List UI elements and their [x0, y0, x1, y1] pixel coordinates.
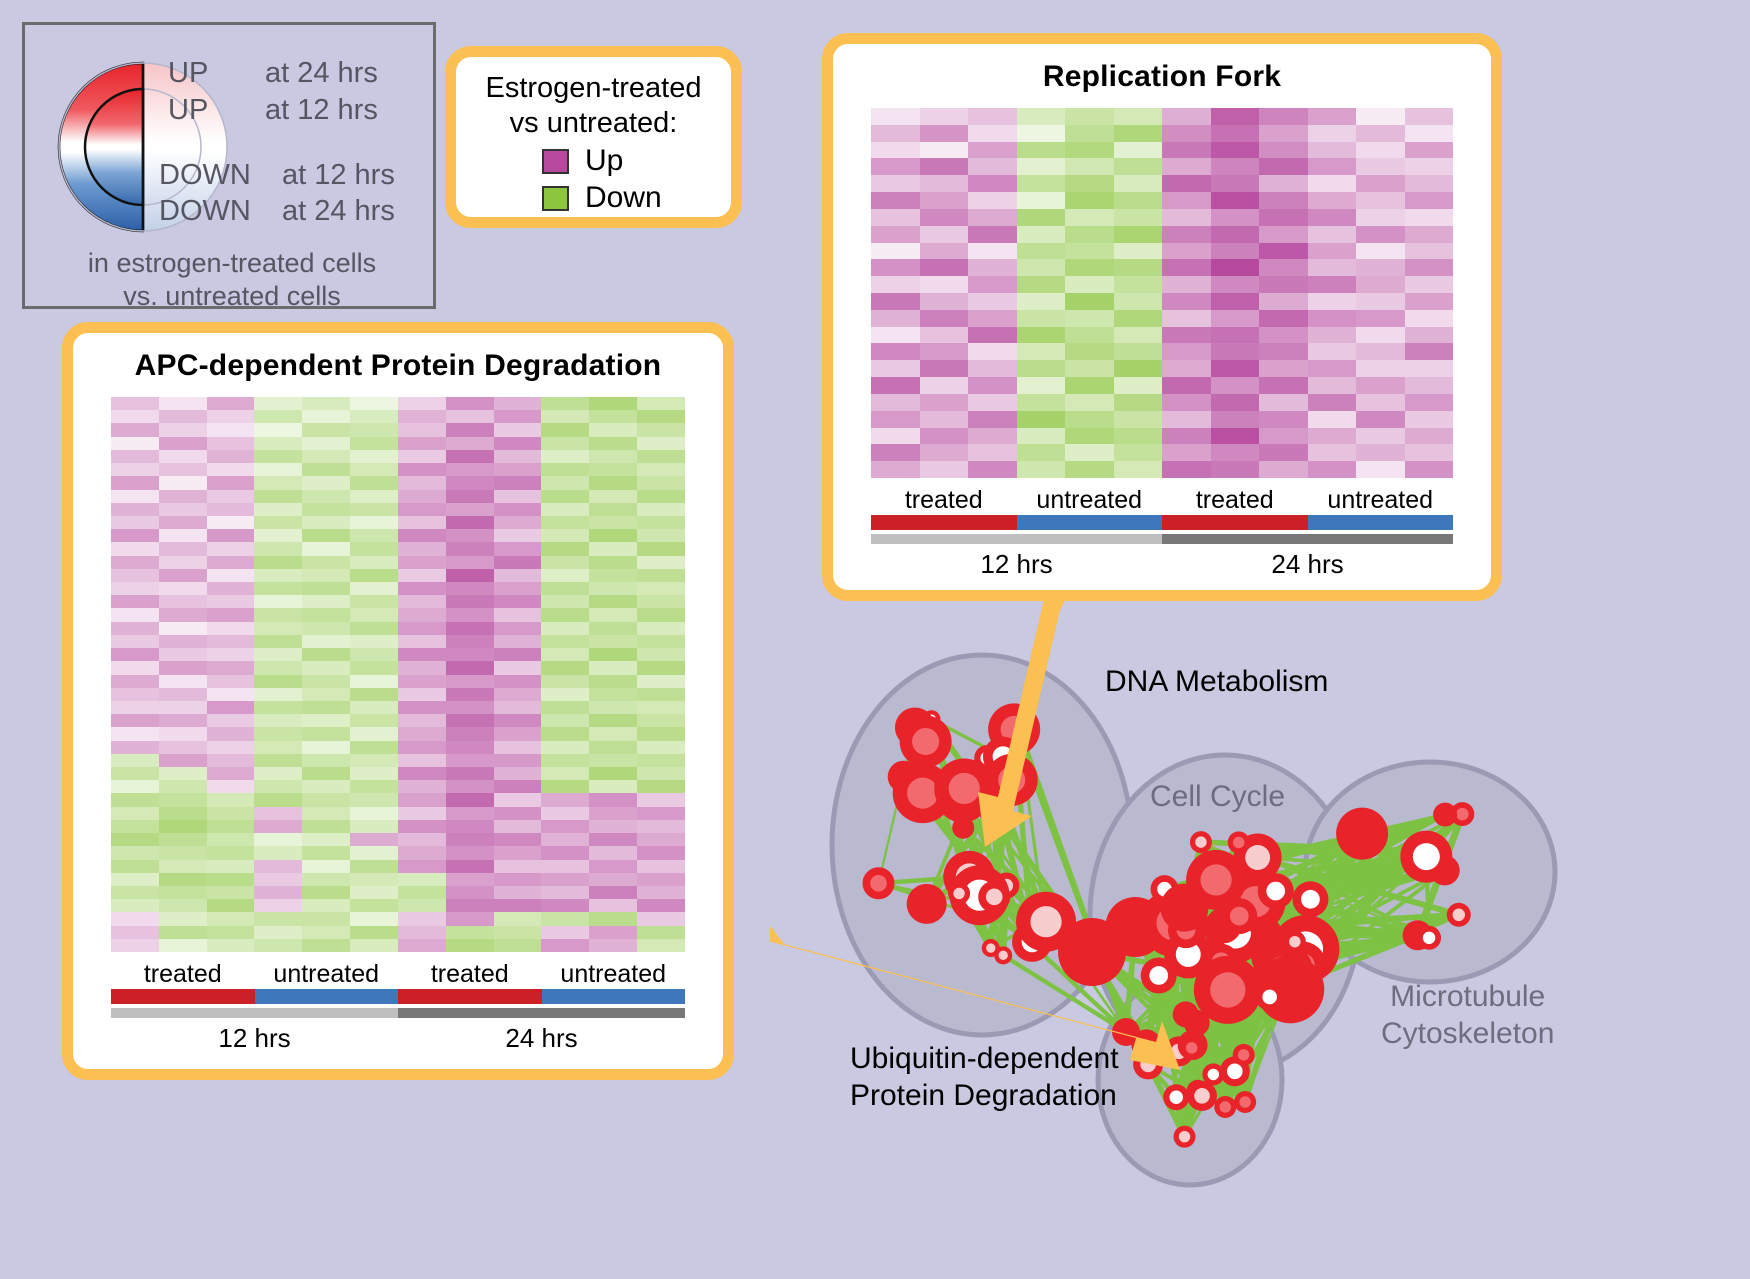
- heatmap-cell: [637, 450, 685, 463]
- heatmap-cell: [920, 293, 969, 310]
- heatmap-cell: [1065, 125, 1114, 142]
- heatmap-cell: [589, 635, 637, 648]
- heatmap-cell: [494, 860, 542, 873]
- heatmap-cell: [254, 648, 302, 661]
- heatmap-cell: [1308, 158, 1357, 175]
- network-node[interactable]: [1186, 850, 1246, 910]
- node-inner-fill: [1413, 843, 1440, 870]
- heatmap-cell: [302, 410, 350, 423]
- heatmap-cell: [111, 767, 159, 780]
- heatmap-cell: [968, 394, 1017, 411]
- heatmap-cell: [350, 886, 398, 899]
- heatmap-cell: [111, 714, 159, 727]
- heatmap-cell: [541, 608, 589, 621]
- heatmap-cell: [111, 793, 159, 806]
- heatmap-cell: [968, 226, 1017, 243]
- heatmap-cell: [1259, 158, 1308, 175]
- heatmap-cell: [637, 490, 685, 503]
- heatmap-cell: [541, 529, 589, 542]
- heatmap-cell: [159, 476, 207, 489]
- heatmap-cell: [1405, 461, 1454, 478]
- heatmap-cell: [637, 463, 685, 476]
- heatmap-cell: [446, 899, 494, 912]
- heatmap-cell: [350, 701, 398, 714]
- heatmap-cell: [446, 476, 494, 489]
- heatmap-cell: [637, 437, 685, 450]
- heatmap-cell: [1017, 142, 1066, 159]
- heatmap-cell: [1114, 360, 1163, 377]
- heatmap-cell: [159, 595, 207, 608]
- heatmap-cell: [111, 727, 159, 740]
- network-node[interactable]: [1447, 903, 1471, 927]
- heatmap-cell: [302, 886, 350, 899]
- heatmap-cell: [920, 327, 969, 344]
- heatmap-cell: [207, 714, 255, 727]
- network-node[interactable]: [1141, 958, 1177, 994]
- heatmap-cell: [920, 343, 969, 360]
- heatmap-cell: [207, 833, 255, 846]
- heatmap-cell: [637, 608, 685, 621]
- heatmap-cell: [541, 622, 589, 635]
- heatmap-cell: [1162, 444, 1211, 461]
- heatmap-cell: [207, 582, 255, 595]
- heatmap-cell: [207, 675, 255, 688]
- heatmap-cell: [1356, 444, 1405, 461]
- heatmap-cell: [446, 688, 494, 701]
- heatmap-cell: [159, 714, 207, 727]
- network-node[interactable]: [1214, 1096, 1236, 1118]
- heatmap-cell: [254, 661, 302, 674]
- heatmap-cell: [1211, 175, 1260, 192]
- heatmap-cell: [254, 556, 302, 569]
- heatmap-cell: [302, 820, 350, 833]
- heatmap-cell: [398, 397, 446, 410]
- heatmap-cell: [446, 635, 494, 648]
- heatmap-cell: [968, 343, 1017, 360]
- heatmap-cell: [871, 428, 920, 445]
- network-node[interactable]: [907, 884, 947, 924]
- network-node[interactable]: [1234, 1091, 1256, 1113]
- heatmap-cell: [398, 529, 446, 542]
- heatmap-cell: [446, 490, 494, 503]
- heatmap-cell: [1211, 327, 1260, 344]
- sample-label: untreated: [1308, 486, 1454, 515]
- heatmap-cell: [1017, 377, 1066, 394]
- heatmap-cell: [111, 437, 159, 450]
- heatmap-cell: [302, 899, 350, 912]
- ring-row-2-time: at 12 hrs: [282, 159, 395, 192]
- heatmap-cell: [159, 437, 207, 450]
- heatmap-cell: [541, 516, 589, 529]
- heatmap-cell: [871, 192, 920, 209]
- apc-time-bar: [111, 1008, 685, 1018]
- heatmap-cell: [494, 476, 542, 489]
- heatmap-cell: [398, 912, 446, 925]
- heatmap-cell: [350, 529, 398, 542]
- heatmap-cell: [589, 767, 637, 780]
- heatmap-cell: [398, 503, 446, 516]
- heatmap-cell: [871, 175, 920, 192]
- heatmap-cell: [159, 542, 207, 555]
- heatmap-cell: [1162, 209, 1211, 226]
- heatmap-cell: [111, 833, 159, 846]
- heatmap-cell: [589, 780, 637, 793]
- network-node[interactable]: [1233, 1044, 1255, 1066]
- heatmap-cell: [1211, 360, 1260, 377]
- time-label: 24 hrs: [1162, 549, 1453, 580]
- heatmap-cell: [398, 516, 446, 529]
- heatmap-cell: [302, 780, 350, 793]
- heatmap-cell: [920, 243, 969, 260]
- heatmap-cell: [111, 661, 159, 674]
- heatmap-cell: [1162, 327, 1211, 344]
- heatmap-cell: [1259, 293, 1308, 310]
- heatmap-cell: [302, 529, 350, 542]
- heatmap-cell: [1162, 226, 1211, 243]
- heatmap-cell: [1356, 327, 1405, 344]
- heatmap-cell: [159, 912, 207, 925]
- heatmap-cell: [541, 397, 589, 410]
- heatmap-cell: [871, 243, 920, 260]
- heatmap-cell: [111, 648, 159, 661]
- heatmap-cell: [159, 423, 207, 436]
- heatmap-cell: [541, 820, 589, 833]
- heatmap-cell: [159, 899, 207, 912]
- network-node[interactable]: [863, 867, 895, 899]
- heatmap-cell: [302, 622, 350, 635]
- heatmap-cell: [302, 490, 350, 503]
- heatmap-cell: [111, 886, 159, 899]
- estrogen-title-line2: vs untreated:: [456, 106, 731, 141]
- heatmap-cell: [398, 410, 446, 423]
- heatmap-cell: [541, 860, 589, 873]
- heatmap-cell: [446, 886, 494, 899]
- heatmap-cell: [541, 873, 589, 886]
- network-node[interactable]: [1181, 1037, 1203, 1059]
- heatmap-cell: [350, 767, 398, 780]
- heatmap-cell: [589, 437, 637, 450]
- heatmap-cell: [111, 516, 159, 529]
- heatmap-cell: [494, 490, 542, 503]
- heatmap-cell: [1308, 108, 1357, 125]
- sample-label: untreated: [255, 960, 399, 989]
- apc-panel: APC-dependent Protein Degradation treate…: [62, 322, 734, 1080]
- heatmap-cell: [111, 569, 159, 582]
- heatmap-cell: [1308, 327, 1357, 344]
- heatmap-cell: [1162, 394, 1211, 411]
- heatmap-cell: [350, 860, 398, 873]
- heatmap-cell: [637, 635, 685, 648]
- heatmap-cell: [159, 939, 207, 952]
- heatmap-cell: [446, 423, 494, 436]
- heatmap-cell: [302, 701, 350, 714]
- heatmap-cell: [254, 569, 302, 582]
- heatmap-cell: [968, 411, 1017, 428]
- node-inner-fill: [1266, 882, 1285, 901]
- heatmap-cell: [968, 327, 1017, 344]
- heatmap-cell: [254, 622, 302, 635]
- heatmap-cell: [302, 635, 350, 648]
- heatmap-cell: [350, 608, 398, 621]
- network-node[interactable]: [1292, 881, 1328, 917]
- heatmap-cell: [446, 529, 494, 542]
- heatmap-cell: [207, 860, 255, 873]
- heatmap-cell: [1405, 310, 1454, 327]
- network-node[interactable]: [1174, 1126, 1196, 1148]
- heatmap-cell: [920, 461, 969, 478]
- node-inner-fill: [1233, 837, 1244, 848]
- heatmap-cell: [637, 476, 685, 489]
- heatmap-cell: [1259, 243, 1308, 260]
- heatmap-cell: [541, 727, 589, 740]
- heatmap-cell: [302, 556, 350, 569]
- heatmap-cell: [1162, 377, 1211, 394]
- time-bar-24hrs: [398, 1008, 685, 1018]
- heatmap-cell: [637, 410, 685, 423]
- heatmap-cell: [1211, 226, 1260, 243]
- heatmap-cell: [920, 276, 969, 293]
- heatmap-cell: [207, 397, 255, 410]
- heatmap-cell: [1259, 394, 1308, 411]
- heatmap-cell: [350, 595, 398, 608]
- heatmap-cell: [1114, 327, 1163, 344]
- heatmap-cell: [637, 899, 685, 912]
- heatmap-cell: [541, 714, 589, 727]
- heatmap-cell: [1211, 428, 1260, 445]
- heatmap-cell: [111, 529, 159, 542]
- heatmap-cell: [1065, 310, 1114, 327]
- heatmap-cell: [207, 807, 255, 820]
- heatmap-cell: [494, 701, 542, 714]
- heatmap-cell: [398, 886, 446, 899]
- heatmap-cell: [350, 754, 398, 767]
- heatmap-cell: [1162, 108, 1211, 125]
- untreated-bar: [255, 989, 399, 1004]
- heatmap-cell: [1211, 158, 1260, 175]
- heatmap-cell: [1162, 428, 1211, 445]
- heatmap-cell: [398, 701, 446, 714]
- heatmap-cell: [398, 860, 446, 873]
- heatmap-cell: [159, 780, 207, 793]
- heatmap-cell: [446, 767, 494, 780]
- heatmap-cell: [254, 833, 302, 846]
- heatmap-cell: [254, 860, 302, 873]
- network-node[interactable]: [1433, 803, 1457, 827]
- heatmap-cell: [207, 741, 255, 754]
- heatmap-cell: [541, 556, 589, 569]
- network-label-dna-metabolism: DNA Metabolism: [1105, 665, 1328, 699]
- heatmap-cell: [159, 926, 207, 939]
- network-node[interactable]: [978, 881, 1010, 913]
- heatmap-cell: [1114, 461, 1163, 478]
- network-node[interactable]: [1058, 918, 1126, 986]
- heatmap-cell: [1114, 158, 1163, 175]
- network-node[interactable]: [952, 817, 974, 839]
- heatmap-cell: [302, 423, 350, 436]
- heatmap-cell: [589, 873, 637, 886]
- heatmap-cell: [1017, 276, 1066, 293]
- heatmap-cell: [637, 582, 685, 595]
- apc-time-labels: 12 hrs 24 hrs: [111, 1023, 685, 1054]
- heatmap-cell: [350, 476, 398, 489]
- network-node[interactable]: [900, 716, 952, 768]
- heatmap-cell: [1308, 394, 1357, 411]
- heatmap-cell: [637, 767, 685, 780]
- heatmap-cell: [254, 886, 302, 899]
- heatmap-cell: [398, 582, 446, 595]
- heatmap-cell: [871, 327, 920, 344]
- heatmap-cell: [541, 503, 589, 516]
- heatmap-cell: [541, 780, 589, 793]
- heatmap-cell: [302, 595, 350, 608]
- function-network-diagram: [770, 600, 1750, 1279]
- heatmap-cell: [446, 437, 494, 450]
- heatmap-cell: [207, 846, 255, 859]
- heatmap-cell: [1211, 293, 1260, 310]
- heatmap-cell: [637, 780, 685, 793]
- heatmap-cell: [159, 529, 207, 542]
- heatmap-cell: [541, 595, 589, 608]
- heatmap-cell: [589, 410, 637, 423]
- network-node[interactable]: [1284, 931, 1306, 953]
- ring-caption-line2: vs. untreated cells: [25, 280, 439, 313]
- heatmap-cell: [254, 635, 302, 648]
- up-color-swatch: [542, 149, 569, 174]
- heatmap-cell: [350, 397, 398, 410]
- heatmap-cell: [494, 741, 542, 754]
- network-node[interactable]: [1163, 1084, 1189, 1110]
- heatmap-cell: [494, 926, 542, 939]
- heatmap-cell: [350, 503, 398, 516]
- heatmap-cell: [207, 463, 255, 476]
- heatmap-cell: [589, 886, 637, 899]
- heatmap-cell: [207, 635, 255, 648]
- heatmap-cell: [541, 886, 589, 899]
- heatmap-cell: [1405, 142, 1454, 159]
- heatmap-cell: [254, 926, 302, 939]
- heatmap-cell: [1356, 293, 1405, 310]
- heatmap-cell: [350, 926, 398, 939]
- heatmap-cell: [159, 410, 207, 423]
- node-inner-fill: [1210, 972, 1245, 1007]
- heatmap-cell: [398, 899, 446, 912]
- ring-row-0-time: at 24 hrs: [265, 57, 378, 90]
- heatmap-cell: [1405, 293, 1454, 310]
- heatmap-cell: [1308, 276, 1357, 293]
- heatmap-cell: [1017, 209, 1066, 226]
- network-node[interactable]: [1258, 873, 1294, 909]
- heatmap-cell: [446, 648, 494, 661]
- heatmap-cell: [159, 450, 207, 463]
- heatmap-cell: [207, 820, 255, 833]
- heatmap-cell: [1356, 158, 1405, 175]
- node-inner-fill: [1239, 1096, 1250, 1107]
- heatmap-cell: [541, 661, 589, 674]
- network-node[interactable]: [948, 882, 970, 904]
- heatmap-cell: [446, 397, 494, 410]
- network-node[interactable]: [1228, 831, 1250, 853]
- heatmap-cell: [302, 450, 350, 463]
- heatmap-cell: [1017, 411, 1066, 428]
- heatmap-cell: [111, 701, 159, 714]
- network-node[interactable]: [1202, 1063, 1224, 1085]
- heatmap-cell: [1308, 259, 1357, 276]
- node-inner-fill: [1208, 1069, 1219, 1080]
- ring-row-1-label: UP: [168, 94, 208, 127]
- heatmap-cell: [302, 569, 350, 582]
- heatmap-cell: [541, 450, 589, 463]
- heatmap-cell: [398, 450, 446, 463]
- legend-item-up: Up: [542, 144, 731, 178]
- heatmap-cell: [159, 741, 207, 754]
- heatmap-cell: [871, 226, 920, 243]
- heatmap-cell: [637, 423, 685, 436]
- heatmap-cell: [111, 608, 159, 621]
- heatmap-cell: [637, 595, 685, 608]
- heatmap-cell: [111, 873, 159, 886]
- down-color-swatch: [542, 186, 569, 211]
- node-inner-fill: [1289, 936, 1300, 947]
- time-label: 12 hrs: [111, 1023, 398, 1054]
- heatmap-cell: [589, 793, 637, 806]
- heatmap-cell: [1114, 444, 1163, 461]
- heatmap-cell: [589, 807, 637, 820]
- heatmap-cell: [111, 741, 159, 754]
- heatmap-cell: [1017, 360, 1066, 377]
- heatmap-cell: [446, 622, 494, 635]
- heatmap-cell: [589, 608, 637, 621]
- heatmap-cell: [398, 873, 446, 886]
- heatmap-cell: [1211, 394, 1260, 411]
- heatmap-cell: [1017, 108, 1066, 125]
- heatmap-cell: [111, 899, 159, 912]
- heatmap-cell: [111, 542, 159, 555]
- heatmap-cell: [637, 873, 685, 886]
- network-node[interactable]: [1256, 983, 1284, 1011]
- heatmap-cell: [350, 635, 398, 648]
- heatmap-cell: [398, 807, 446, 820]
- heatmap-cell: [446, 450, 494, 463]
- heatmap-cell: [1017, 226, 1066, 243]
- heatmap-cell: [871, 444, 920, 461]
- network-node[interactable]: [1190, 831, 1212, 853]
- heatmap-cell: [589, 423, 637, 436]
- network-node[interactable]: [994, 946, 1012, 964]
- heatmap-cell: [350, 807, 398, 820]
- heatmap-cell: [398, 926, 446, 939]
- ring-row-3-label: DOWN: [159, 195, 251, 228]
- heatmap-cell: [207, 939, 255, 952]
- heatmap-cell: [111, 860, 159, 873]
- heatmap-cell: [1114, 293, 1163, 310]
- heatmap-cell: [1405, 209, 1454, 226]
- heatmap-cell: [446, 608, 494, 621]
- heatmap-cell: [968, 158, 1017, 175]
- ring-row-2-label: DOWN: [159, 159, 251, 192]
- heatmap-cell: [920, 259, 969, 276]
- heatmap-cell: [446, 873, 494, 886]
- network-node[interactable]: [1336, 808, 1388, 860]
- heatmap-cell: [637, 807, 685, 820]
- heatmap-cell: [494, 793, 542, 806]
- network-node[interactable]: [1417, 926, 1441, 950]
- heatmap-cell: [1065, 327, 1114, 344]
- ring-caption-line1: in estrogen-treated cells: [25, 247, 439, 280]
- heatmap-cell: [207, 767, 255, 780]
- node-inner-fill: [907, 778, 938, 809]
- network-node[interactable]: [1400, 831, 1452, 883]
- heatmap-cell: [1162, 276, 1211, 293]
